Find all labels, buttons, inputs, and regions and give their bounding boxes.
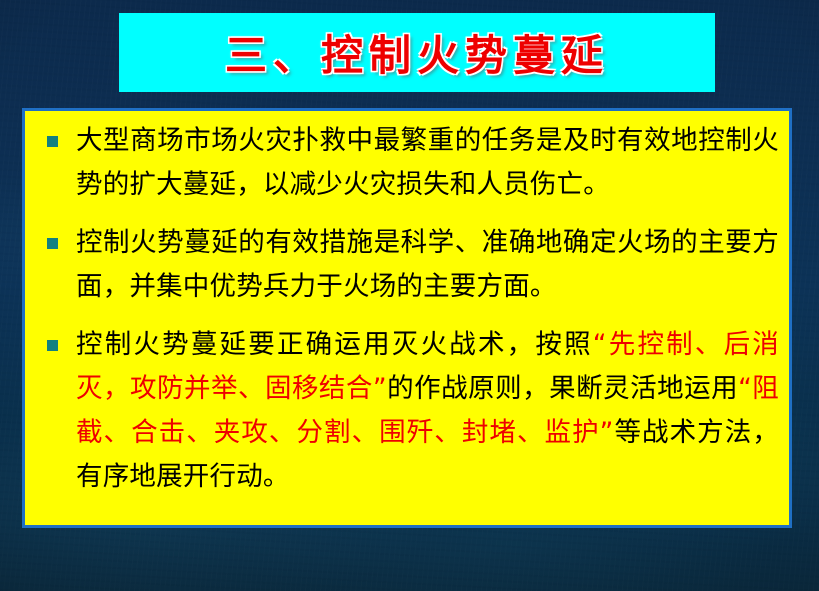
list-item: 控制火势蔓延要正确运用灭火战术，按照“先控制、后消灭，攻防并举、固移结合”的作战… (35, 323, 779, 499)
square-bullet-icon (47, 340, 58, 351)
square-bullet-icon (47, 238, 58, 249)
body-text: 控制火势蔓延要正确运用灭火战术，按照 (76, 329, 593, 360)
presentation-slide: 三、控制火势蔓延 大型商场市场火灾扑救中最繁重的任务是及时有效地控制火势的扩大蔓… (0, 0, 819, 591)
body-text: 控制火势蔓延的有效措施是科学、准确地确定火场的主要方面，并集中优势兵力于火场的主… (76, 227, 779, 302)
title-banner: 三、控制火势蔓延 (119, 13, 715, 92)
body-text: 的作战原则，果断灵活地运用 (387, 373, 738, 404)
bullet-paragraph-3: 控制火势蔓延要正确运用灭火战术，按照“先控制、后消灭，攻防并举、固移结合”的作战… (76, 323, 779, 499)
body-text: 大型商场市场火灾扑救中最繁重的任务是及时有效地控制火势的扩大蔓延，以减少火灾损失… (76, 125, 779, 200)
square-bullet-icon (47, 136, 58, 147)
bullet-paragraph-1: 大型商场市场火灾扑救中最繁重的任务是及时有效地控制火势的扩大蔓延，以减少火灾损失… (76, 119, 779, 207)
bullet-paragraph-2: 控制火势蔓延的有效措施是科学、准确地确定火场的主要方面，并集中优势兵力于火场的主… (76, 221, 779, 309)
list-item: 控制火势蔓延的有效措施是科学、准确地确定火场的主要方面，并集中优势兵力于火场的主… (35, 221, 779, 309)
list-item: 大型商场市场火灾扑救中最繁重的任务是及时有效地控制火势的扩大蔓延，以减少火灾损失… (35, 119, 779, 207)
slide-title: 三、控制火势蔓延 (225, 22, 609, 83)
content-panel: 大型商场市场火灾扑救中最繁重的任务是及时有效地控制火势的扩大蔓延，以减少火灾损失… (22, 108, 792, 528)
bullet-list: 大型商场市场火灾扑救中最繁重的任务是及时有效地控制火势的扩大蔓延，以减少火灾损失… (35, 119, 779, 499)
